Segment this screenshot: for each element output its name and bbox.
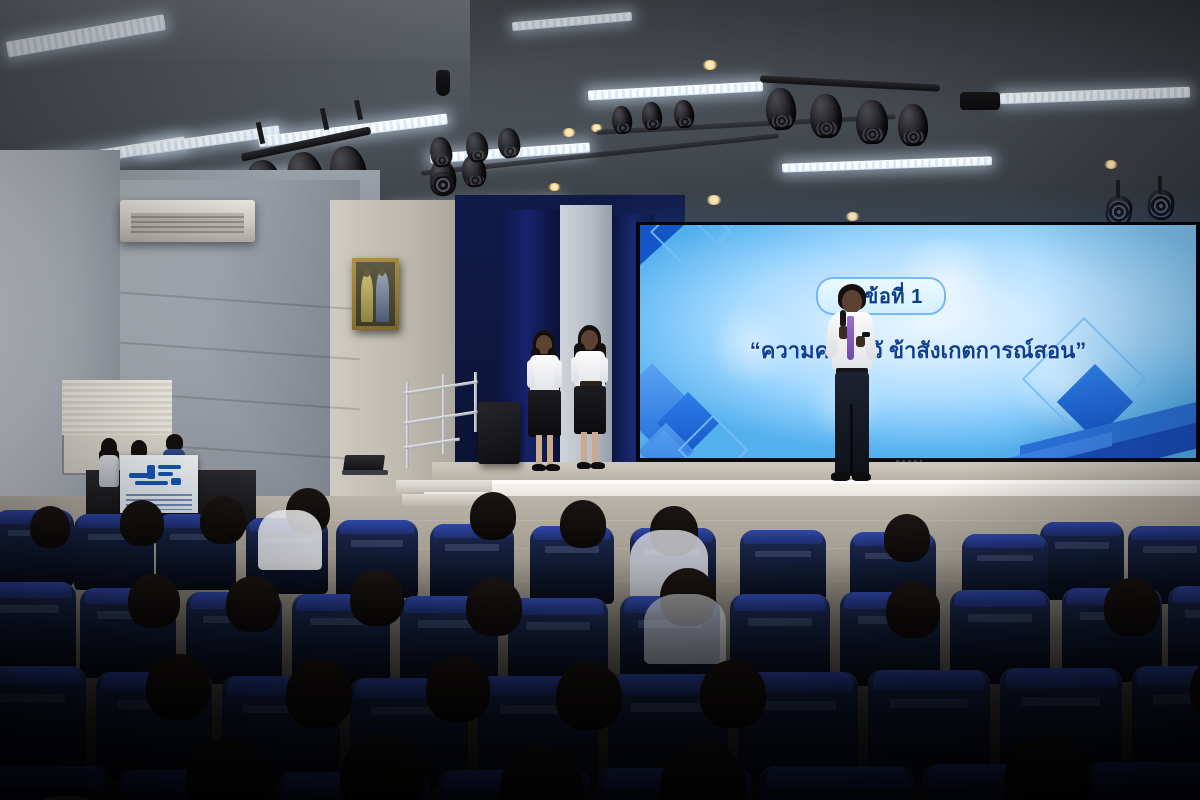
floor-monitor-speaker bbox=[478, 402, 520, 464]
audience-member-white-shirt bbox=[644, 594, 726, 664]
recessed-downlight bbox=[702, 60, 718, 70]
stage-handrail bbox=[404, 372, 478, 468]
audience-member bbox=[884, 514, 930, 562]
recessed-downlight bbox=[706, 195, 722, 205]
trouser-seam bbox=[850, 404, 853, 476]
presenter bbox=[826, 284, 878, 496]
necktie bbox=[847, 316, 854, 360]
audience-member bbox=[350, 570, 404, 626]
handheld-microphone bbox=[840, 310, 846, 327]
presentation-slide: หัวข้อที่ 1 “ความคาดหวั ข้าสังเกตการณ์สอ… bbox=[640, 225, 1196, 461]
framed-portrait bbox=[352, 258, 399, 330]
audience-member bbox=[226, 576, 280, 632]
student-left bbox=[524, 330, 564, 475]
student-right bbox=[568, 325, 610, 475]
seat[interactable] bbox=[0, 666, 86, 774]
window-blind bbox=[62, 380, 172, 435]
recessed-downlight bbox=[1104, 160, 1118, 169]
audience-member bbox=[560, 500, 606, 548]
audience-member bbox=[200, 496, 246, 544]
audience-member bbox=[426, 656, 490, 722]
seat[interactable] bbox=[1086, 762, 1200, 800]
audience-member bbox=[556, 662, 622, 730]
ceiling-speaker bbox=[436, 70, 450, 96]
audience-member bbox=[128, 574, 180, 628]
seat[interactable] bbox=[760, 766, 914, 800]
seat[interactable] bbox=[0, 766, 110, 800]
audience-member bbox=[886, 582, 940, 638]
audience-member bbox=[470, 492, 516, 540]
audience-member bbox=[1104, 578, 1160, 636]
audience-member bbox=[466, 578, 522, 636]
audience-member bbox=[30, 506, 70, 548]
recessed-downlight bbox=[548, 183, 561, 191]
auditorium-photo: หัวข้อที่ 1 “ความคาดหวั ข้าสังเกตการณ์สอ… bbox=[0, 0, 1200, 800]
air-conditioner-unit bbox=[120, 200, 255, 242]
audience-member-white-shirt bbox=[258, 510, 322, 570]
presenter-hand bbox=[856, 336, 865, 347]
audience-member bbox=[700, 660, 766, 728]
audience-member bbox=[120, 500, 164, 546]
recessed-downlight bbox=[845, 212, 860, 221]
ceiling-projector bbox=[960, 92, 1000, 110]
seat[interactable] bbox=[0, 582, 76, 672]
audience-member bbox=[286, 660, 352, 728]
truss-rod bbox=[1116, 180, 1120, 198]
truss-rod bbox=[1158, 176, 1162, 194]
recessed-downlight bbox=[562, 128, 576, 137]
screen-gloss bbox=[640, 225, 1196, 461]
audience-member bbox=[146, 654, 210, 720]
audience-seating bbox=[0, 470, 1200, 800]
wristwatch bbox=[862, 332, 870, 337]
led-screen[interactable]: หัวข้อที่ 1 “ความคาดหวั ข้าสังเกตการณ์สอ… bbox=[636, 222, 1200, 470]
